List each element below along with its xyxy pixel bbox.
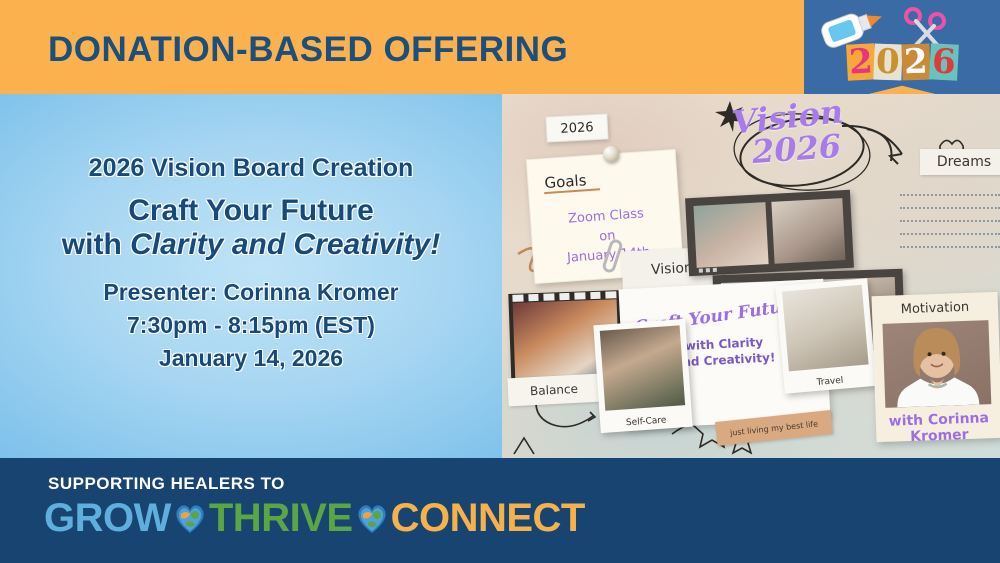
headline-prefix: with xyxy=(62,228,130,261)
badge-digit-1: 2 xyxy=(846,43,876,80)
event-headline-line2: with Clarity and Creativity! xyxy=(0,228,502,262)
page-title: DONATION-BASED OFFERING xyxy=(48,30,568,70)
badge-digit-2: 0 xyxy=(874,44,903,81)
dreams-label: Dreams xyxy=(920,149,1000,175)
promotional-flyer: DONATION-BASED OFFERING 2026 xyxy=(0,0,1000,563)
polaroid-self-care: Self-Care xyxy=(593,319,692,433)
photo-travel xyxy=(782,285,869,372)
event-subtitle: 2026 Vision Board Creation xyxy=(0,154,502,183)
scissors-icon xyxy=(906,9,944,46)
tagline-word-thrive: THRIVE xyxy=(209,498,353,538)
footer-tagline: GROW THRIVE CONNECT xyxy=(44,498,585,538)
polaroid-travel: Travel xyxy=(775,278,876,394)
headline-italic: Clarity and Creativity! xyxy=(130,228,440,261)
photo-hands xyxy=(693,202,768,268)
tagline-word-grow: GROW xyxy=(44,498,171,538)
vision-board-collage: 2026 Goals Zoom Class on January 14th Vi… xyxy=(502,94,1000,458)
photo-self-care xyxy=(600,325,685,410)
motivation-card: Motivation with Corinna Kromer xyxy=(871,292,1000,442)
heart-globe-icon-2 xyxy=(355,501,389,535)
footer-band: SUPPORTING HEALERS TO GROW THRIVE CONNEC… xyxy=(0,458,1000,563)
presenter-credit: with Corinna Kromer xyxy=(876,410,1000,446)
presenter-photo xyxy=(882,320,991,408)
dreams-lines xyxy=(900,194,1000,259)
screen-photo-frame xyxy=(685,190,854,277)
badge-year: 2026 xyxy=(804,44,1000,90)
presenter-line: Presenter: Corinna Kromer xyxy=(0,279,502,306)
event-headline-line1: Craft Your Future xyxy=(0,194,502,228)
event-date: January 14, 2026 xyxy=(0,345,502,372)
year-tag-note: 2026 xyxy=(545,113,608,142)
push-pin-icon xyxy=(603,146,619,162)
balance-label: Balance xyxy=(507,374,600,407)
badge-digit-3: 2 xyxy=(901,44,930,81)
footer-supporting-text: SUPPORTING HEALERS TO xyxy=(48,474,285,494)
vision-script-line2: 2026 xyxy=(751,131,842,168)
tagline-word-connect: CONNECT xyxy=(391,498,585,538)
self-care-caption: Self-Care xyxy=(600,414,692,430)
screen-controls-icon xyxy=(699,268,717,273)
badge-digit-4: 6 xyxy=(929,43,959,80)
event-info-panel: 2026 Vision Board Creation Craft Your Fu… xyxy=(0,94,502,458)
heart-globe-icon-1 xyxy=(173,501,207,535)
event-time: 7:30pm - 8:15pm (EST) xyxy=(0,312,502,339)
motivation-label: Motivation xyxy=(872,299,998,318)
photo-laptop xyxy=(771,198,846,264)
